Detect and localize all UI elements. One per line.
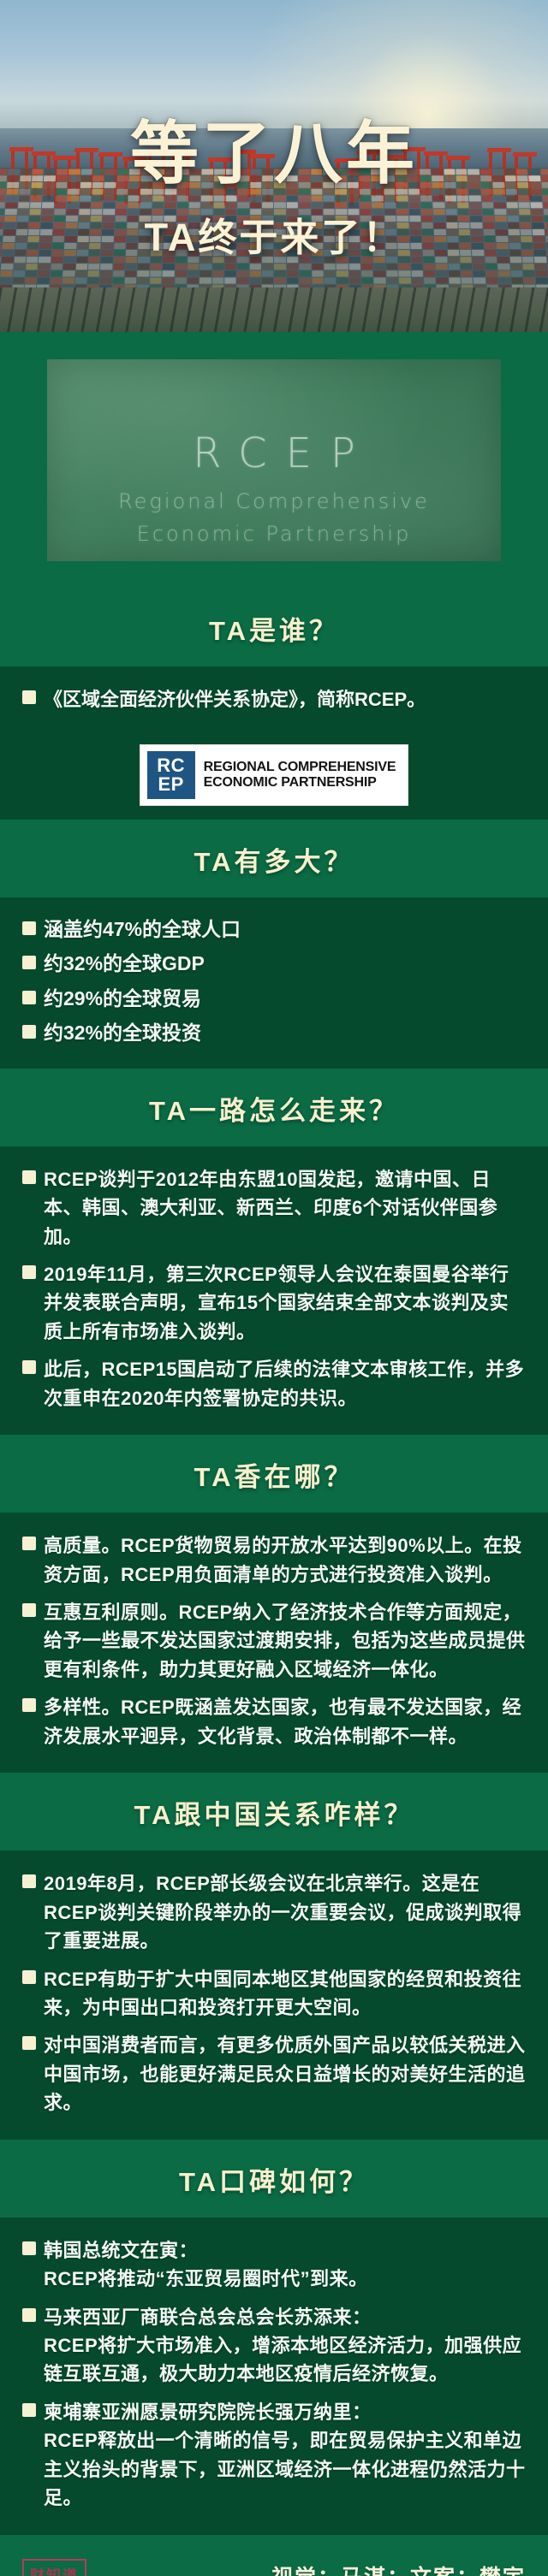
square-bullet-icon [22, 1265, 36, 1279]
square-bullet-icon [22, 2241, 36, 2255]
section-body-benefits: 高质量。RCEP货物贸易的开放水平达到90%以上。在投资方面，RCEP用负面清单… [0, 1513, 548, 1773]
credits-text: 视觉：马湛；文案：樊宇 [271, 2561, 526, 2576]
bullet-item: 涵盖约47%的全球人口 [22, 916, 526, 943]
bullet-text: 涵盖约47%的全球人口 [44, 916, 241, 943]
hero-subtitle: TA终于来了！ [0, 218, 548, 257]
section-heading-who: TA是谁？ [0, 589, 548, 666]
hero-title: 等了八年 [0, 120, 548, 188]
bullet-item: 韩国总统文在寅：RCEP将推动“东亚贸易圈时代”到来。 [22, 2236, 526, 2294]
bullet-item: 柬埔寨亚洲愿景研究院院长强万纳里：RCEP释放出一个清晰的信号，即在贸易保护主义… [22, 2398, 526, 2513]
square-bullet-icon [22, 1970, 36, 1984]
bullet-text: 互惠互利原则。RCEP纳入了经济技术合作等方面规定，给予一些最不发达国家过渡期安… [44, 1598, 526, 1684]
bullet-text: 约32%的全球GDP [44, 950, 205, 977]
bullet-text: 此后，RCEP15国启动了后续的法律文本审核工作，并多次重申在2020年内签署协… [44, 1355, 526, 1412]
section-heading-text: TA是谁？ [209, 616, 339, 646]
square-bullet-icon [22, 1537, 36, 1550]
rcep-logo: RC EP REGIONAL COMPREHENSIVE ECONOMIC PA… [140, 744, 409, 806]
hero-photo: 等了八年 TA终于来了！ [0, 0, 548, 332]
section-heading-text: TA跟中国关系咋样？ [134, 1800, 414, 1830]
section-body-who: 《区域全面经济伙伴关系协定》，简称RCEP。 [0, 666, 548, 736]
bullet-text: 韩国总统文在寅：RCEP将推动“东亚贸易圈时代”到来。 [44, 2236, 368, 2294]
bullet-item: 高质量。RCEP货物贸易的开放水平达到90%以上。在投资方面，RCEP用负面清单… [22, 1531, 526, 1589]
bullet-item: RCEP谈判于2012年由东盟10国发起，邀请中国、日本、韩国、澳大利亚、新西兰… [22, 1165, 526, 1251]
bullet-text: RCEP有助于扩大中国同本地区其他国家的经贸和投资往来，为中国出口和投资打开更大… [44, 1965, 526, 2022]
bullet-item: 马来西亚厂商联合总会总会长苏添来：RCEP将扩大市场准入，增添本地区经济活力，加… [22, 2303, 526, 2389]
chalk-acronym: RCEP [47, 429, 501, 477]
section-heading-reputation: TA口碑如何？ [0, 2140, 548, 2218]
bullet-text: 约32%的全球投资 [44, 1020, 201, 1046]
bullet-item: 约32%的全球GDP [22, 950, 526, 977]
infographic-page: 等了八年 TA终于来了！ RCEP Regional Comprehensive… [0, 0, 548, 2576]
bullet-item: 2019年8月，RCEP部长级会议在北京举行。这是在RCEP谈判关键阶段举办的一… [22, 1869, 526, 1955]
bullet-text: 《区域全面经济伙伴关系协定》，简称RCEP。 [44, 685, 426, 714]
bullet-text: 多样性。RCEP既涵盖发达国家，也有最不发达国家，经济发展水平迥异，文化背景、政… [44, 1693, 526, 1750]
bullet-text: RCEP谈判于2012年由东盟10国发起，邀请中国、日本、韩国、澳大利亚、新西兰… [44, 1165, 526, 1251]
section-heading-history: TA一路怎么走来？ [0, 1069, 548, 1146]
bullet-item: RCEP有助于扩大中国同本地区其他国家的经贸和投资往来，为中国出口和投资打开更大… [22, 1965, 526, 2022]
section-heading-text: TA香在哪？ [194, 1462, 354, 1492]
bullet-text: 高质量。RCEP货物贸易的开放水平达到90%以上。在投资方面，RCEP用负面清单… [44, 1531, 526, 1589]
rcep-logo-mark-line1: RC [157, 756, 185, 775]
publisher-stamp: 财知道 [22, 2559, 86, 2576]
rcep-logo-text-line2: ECONOMIC PARTNERSHIP [204, 775, 396, 791]
square-bullet-icon [22, 956, 36, 969]
bullet-item: 对中国消费者而言，有更多优质外国产品以较低关税进入中国市场，也能更好满足民众日益… [22, 2031, 526, 2117]
square-bullet-icon [22, 2036, 36, 2050]
bullet-text: 2019年8月，RCEP部长级会议在北京举行。这是在RCEP谈判关键阶段举办的一… [44, 1869, 526, 1955]
square-bullet-icon [22, 991, 36, 1004]
section-body-reputation: 韩国总统文在寅：RCEP将推动“东亚贸易圈时代”到来。 马来西亚厂商联合总会总会… [0, 2218, 548, 2535]
section-body-size: 涵盖约47%的全球人口 约32%的全球GDP 约29%的全球贸易 约32%的全球… [0, 897, 548, 1068]
section-heading-benefits: TA香在哪？ [0, 1435, 548, 1513]
footer-bar: 财知道 视觉：马湛；文案：樊宇 [0, 2535, 548, 2576]
bullet-item: 多样性。RCEP既涵盖发达国家，也有最不发达国家，经济发展水平迥异，文化背景、政… [22, 1693, 526, 1750]
rcep-logo-text-line1: REGIONAL COMPREHENSIVE [204, 760, 396, 776]
bullet-item: 约29%的全球贸易 [22, 986, 526, 1012]
section-heading-text: TA口碑如何？ [179, 2167, 369, 2197]
square-bullet-icon [22, 1603, 36, 1617]
bullet-text: 马来西亚厂商联合总会总会长苏添来：RCEP将扩大市场准入，增添本地区经济活力，加… [44, 2303, 526, 2389]
bullet-text: 约29%的全球贸易 [44, 986, 201, 1012]
square-bullet-icon [22, 2403, 36, 2417]
square-bullet-icon [22, 1025, 36, 1039]
chalkboard-band: RCEP Regional Comprehensive Economic Par… [0, 332, 548, 589]
square-bullet-icon [22, 1170, 36, 1184]
section-heading-china: TA跟中国关系咋样？ [0, 1773, 548, 1851]
square-bullet-icon [22, 1874, 36, 1888]
bullet-item: 约32%的全球投资 [22, 1020, 526, 1046]
square-bullet-icon [22, 690, 36, 704]
section-heading-text: TA有多大？ [194, 847, 354, 877]
bullet-item: 此后，RCEP15国启动了后续的法律文本审核工作，并多次重申在2020年内签署协… [22, 1355, 526, 1412]
chalk-subtitle-line1: Regional Comprehensive [47, 489, 501, 513]
chalk-subtitle-line2: Economic Partnership [47, 522, 501, 546]
bullet-item: 互惠互利原则。RCEP纳入了经济技术合作等方面规定，给予一些最不发达国家过渡期安… [22, 1598, 526, 1684]
rcep-logo-mark-line2: EP [158, 775, 183, 794]
bullet-item: 《区域全面经济伙伴关系协定》，简称RCEP。 [22, 685, 526, 714]
rcep-logo-mark: RC EP [147, 751, 195, 799]
bullet-text: 对中国消费者而言，有更多优质外国产品以较低关税进入中国市场，也能更好满足民众日益… [44, 2031, 526, 2117]
section-heading-text: TA一路怎么走来？ [149, 1096, 399, 1126]
square-bullet-icon [22, 1698, 36, 1712]
bullet-text: 2019年11月，第三次RCEP领导人会议在泰国曼谷举行并发表联合声明，宣布15… [44, 1260, 526, 1346]
bullet-item: 2019年11月，第三次RCEP领导人会议在泰国曼谷举行并发表联合声明，宣布15… [22, 1260, 526, 1346]
rcep-logo-container: RC EP REGIONAL COMPREHENSIVE ECONOMIC PA… [0, 736, 548, 820]
section-heading-size: TA有多大？ [0, 820, 548, 897]
section-body-china: 2019年8月，RCEP部长级会议在北京举行。这是在RCEP谈判关键阶段举办的一… [0, 1851, 548, 2140]
section-body-history: RCEP谈判于2012年由东盟10国发起，邀请中国、日本、韩国、澳大利亚、新西兰… [0, 1146, 548, 1436]
bullet-text: 柬埔寨亚洲愿景研究院院长强万纳里：RCEP释放出一个清晰的信号，即在贸易保护主义… [44, 2398, 526, 2513]
chalkboard-panel: RCEP Regional Comprehensive Economic Par… [47, 359, 501, 561]
square-bullet-icon [22, 2308, 36, 2322]
rcep-logo-wordmark: REGIONAL COMPREHENSIVE ECONOMIC PARTNERS… [204, 760, 396, 792]
square-bullet-icon [22, 921, 36, 935]
square-bullet-icon [22, 1360, 36, 1374]
